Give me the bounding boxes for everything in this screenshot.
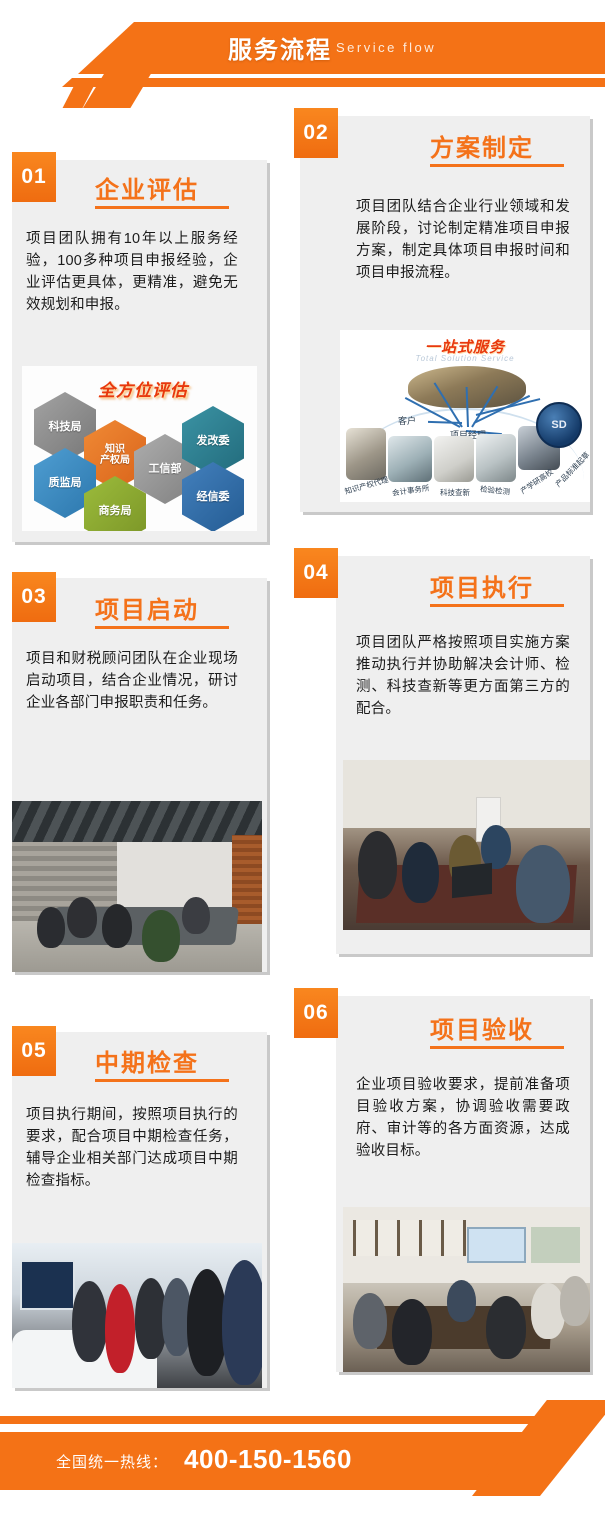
photo-person [187,1269,227,1376]
card-03-number-badge: 03 [12,572,56,622]
photo-whiteboard [531,1227,580,1263]
photo-person [358,831,398,899]
photo-person [72,1281,107,1362]
page-title: 服务流程 [228,30,332,65]
photo-person [37,907,65,948]
card-05-body: 项目执行期间，按照项目执行的要求，配合项目中期检查任务，辅导企业相关部门达成项目… [26,1104,238,1192]
photo-person [182,897,210,935]
hexagon-diagram-heading: 全方位评估 [98,376,188,401]
card-05-number: 05 [21,1039,46,1063]
photo-person [353,1293,388,1349]
card-06-number: 06 [303,1001,328,1025]
one-stop-seal-icon: SD [536,402,582,448]
card-06-body: 企业项目验收要求，提前准备项目验收方案，协调验收需要政府、审计等的各方面资源，达… [356,1074,570,1162]
card-01-number: 01 [21,165,46,189]
photo-laptop [452,863,492,898]
footer-hotline-label: 全国统一热线： [56,1451,168,1472]
photo-projector-screen [467,1227,526,1263]
card-05-title-rule [95,1079,229,1082]
page-footer: 全国统一热线： 400-150-1560 [0,1400,605,1538]
card-02-number-badge: 02 [294,108,338,158]
card-02-title-rule [430,164,564,167]
photo-person [392,1299,432,1365]
one-stop-service-label-2: 科技查新 [440,487,470,498]
card-03-number: 03 [21,585,46,609]
hexagon-assessment-diagram: 全方位评估 科技局 知识产权局 质监局 工信部 商务局 发改委 经信委 [22,366,257,531]
photo-person [516,845,570,923]
card-06-title: 项目验收 [430,1010,534,1045]
photo-team-working-laptops [343,760,590,930]
one-stop-subtitle: Total Solution Service [415,354,514,363]
one-stop-label-customer: 客户 [398,414,416,427]
photo-person [102,904,132,948]
card-03-title: 项目启动 [95,590,199,625]
one-stop-service-label-1: 会计事务所 [391,482,430,498]
header-underbar [62,78,605,87]
card-05-title: 中期检查 [95,1043,199,1078]
one-stop-seal-text: SD [551,419,566,431]
card-03-body: 项目和财税顾问团队在企业现场启动项目，结合企业情况，研讨企业各部门申报职责和任务… [26,648,238,714]
card-06-number-badge: 06 [294,988,338,1038]
photo-person [105,1284,135,1374]
card-02-title: 方案制定 [430,128,534,163]
page-header: 服务流程 Service flow [0,0,605,108]
card-03-title-rule [95,626,229,629]
card-01-title-rule [95,206,229,209]
photo-ceiling [12,801,262,845]
card-05-number-badge: 05 [12,1026,56,1076]
photo-showroom-walkthrough [12,1243,262,1388]
card-04-title-rule [430,604,564,607]
photo-person [67,897,97,938]
footer-hotline-number[interactable]: 400-150-1560 [184,1444,352,1475]
card-04-body: 项目团队严格按照项目实施方案推动执行并协助解决会计师、检测、科技查新等更方面第三… [356,632,570,720]
photo-person [560,1276,590,1326]
photo-conference-room-kickoff [12,801,262,972]
one-stop-thumb-testing [476,434,516,482]
one-stop-service-diagram: 一站式服务 Total Solution Service 客户 项目经理 SD … [340,330,590,502]
card-04-number: 04 [303,561,328,585]
photo-wall-right [117,842,232,917]
photo-person [481,825,511,869]
photo-monitor-wall [20,1260,75,1309]
one-stop-thumb-novelty [434,436,474,482]
one-stop-service-label-3: 检验检测 [480,483,511,497]
card-01-body: 项目团队拥有10年以上服务经验，100多种项目申报经验，企业评估更具体，更精准，… [26,228,238,316]
one-stop-thumb-ip [346,428,386,480]
photo-person [142,910,180,961]
photo-person [486,1296,526,1359]
photo-person [222,1260,262,1385]
card-01-title: 企业评估 [95,170,199,205]
photo-acceptance-meeting [343,1207,590,1372]
footer-accent-line [0,1416,590,1424]
card-04-number-badge: 04 [294,548,338,598]
service-flow-poster: 服务流程 Service flow 01 企业评估 项目团队拥有10年以上服务经… [0,0,605,1538]
photo-certificates [353,1220,467,1256]
photo-person [402,842,439,903]
page-subtitle: Service flow [336,40,436,55]
photo-curtain [506,760,590,855]
one-stop-thumb-accounting [388,436,432,482]
card-02-number: 02 [303,121,328,145]
card-06-title-rule [430,1046,564,1049]
card-02-body: 项目团队结合企业行业领域和发展阶段，讨论制定精准项目申报方案，制定具体项目申报时… [356,196,570,284]
card-04-title: 项目执行 [430,568,534,603]
card-01-number-badge: 01 [12,152,56,202]
photo-person [447,1280,477,1323]
